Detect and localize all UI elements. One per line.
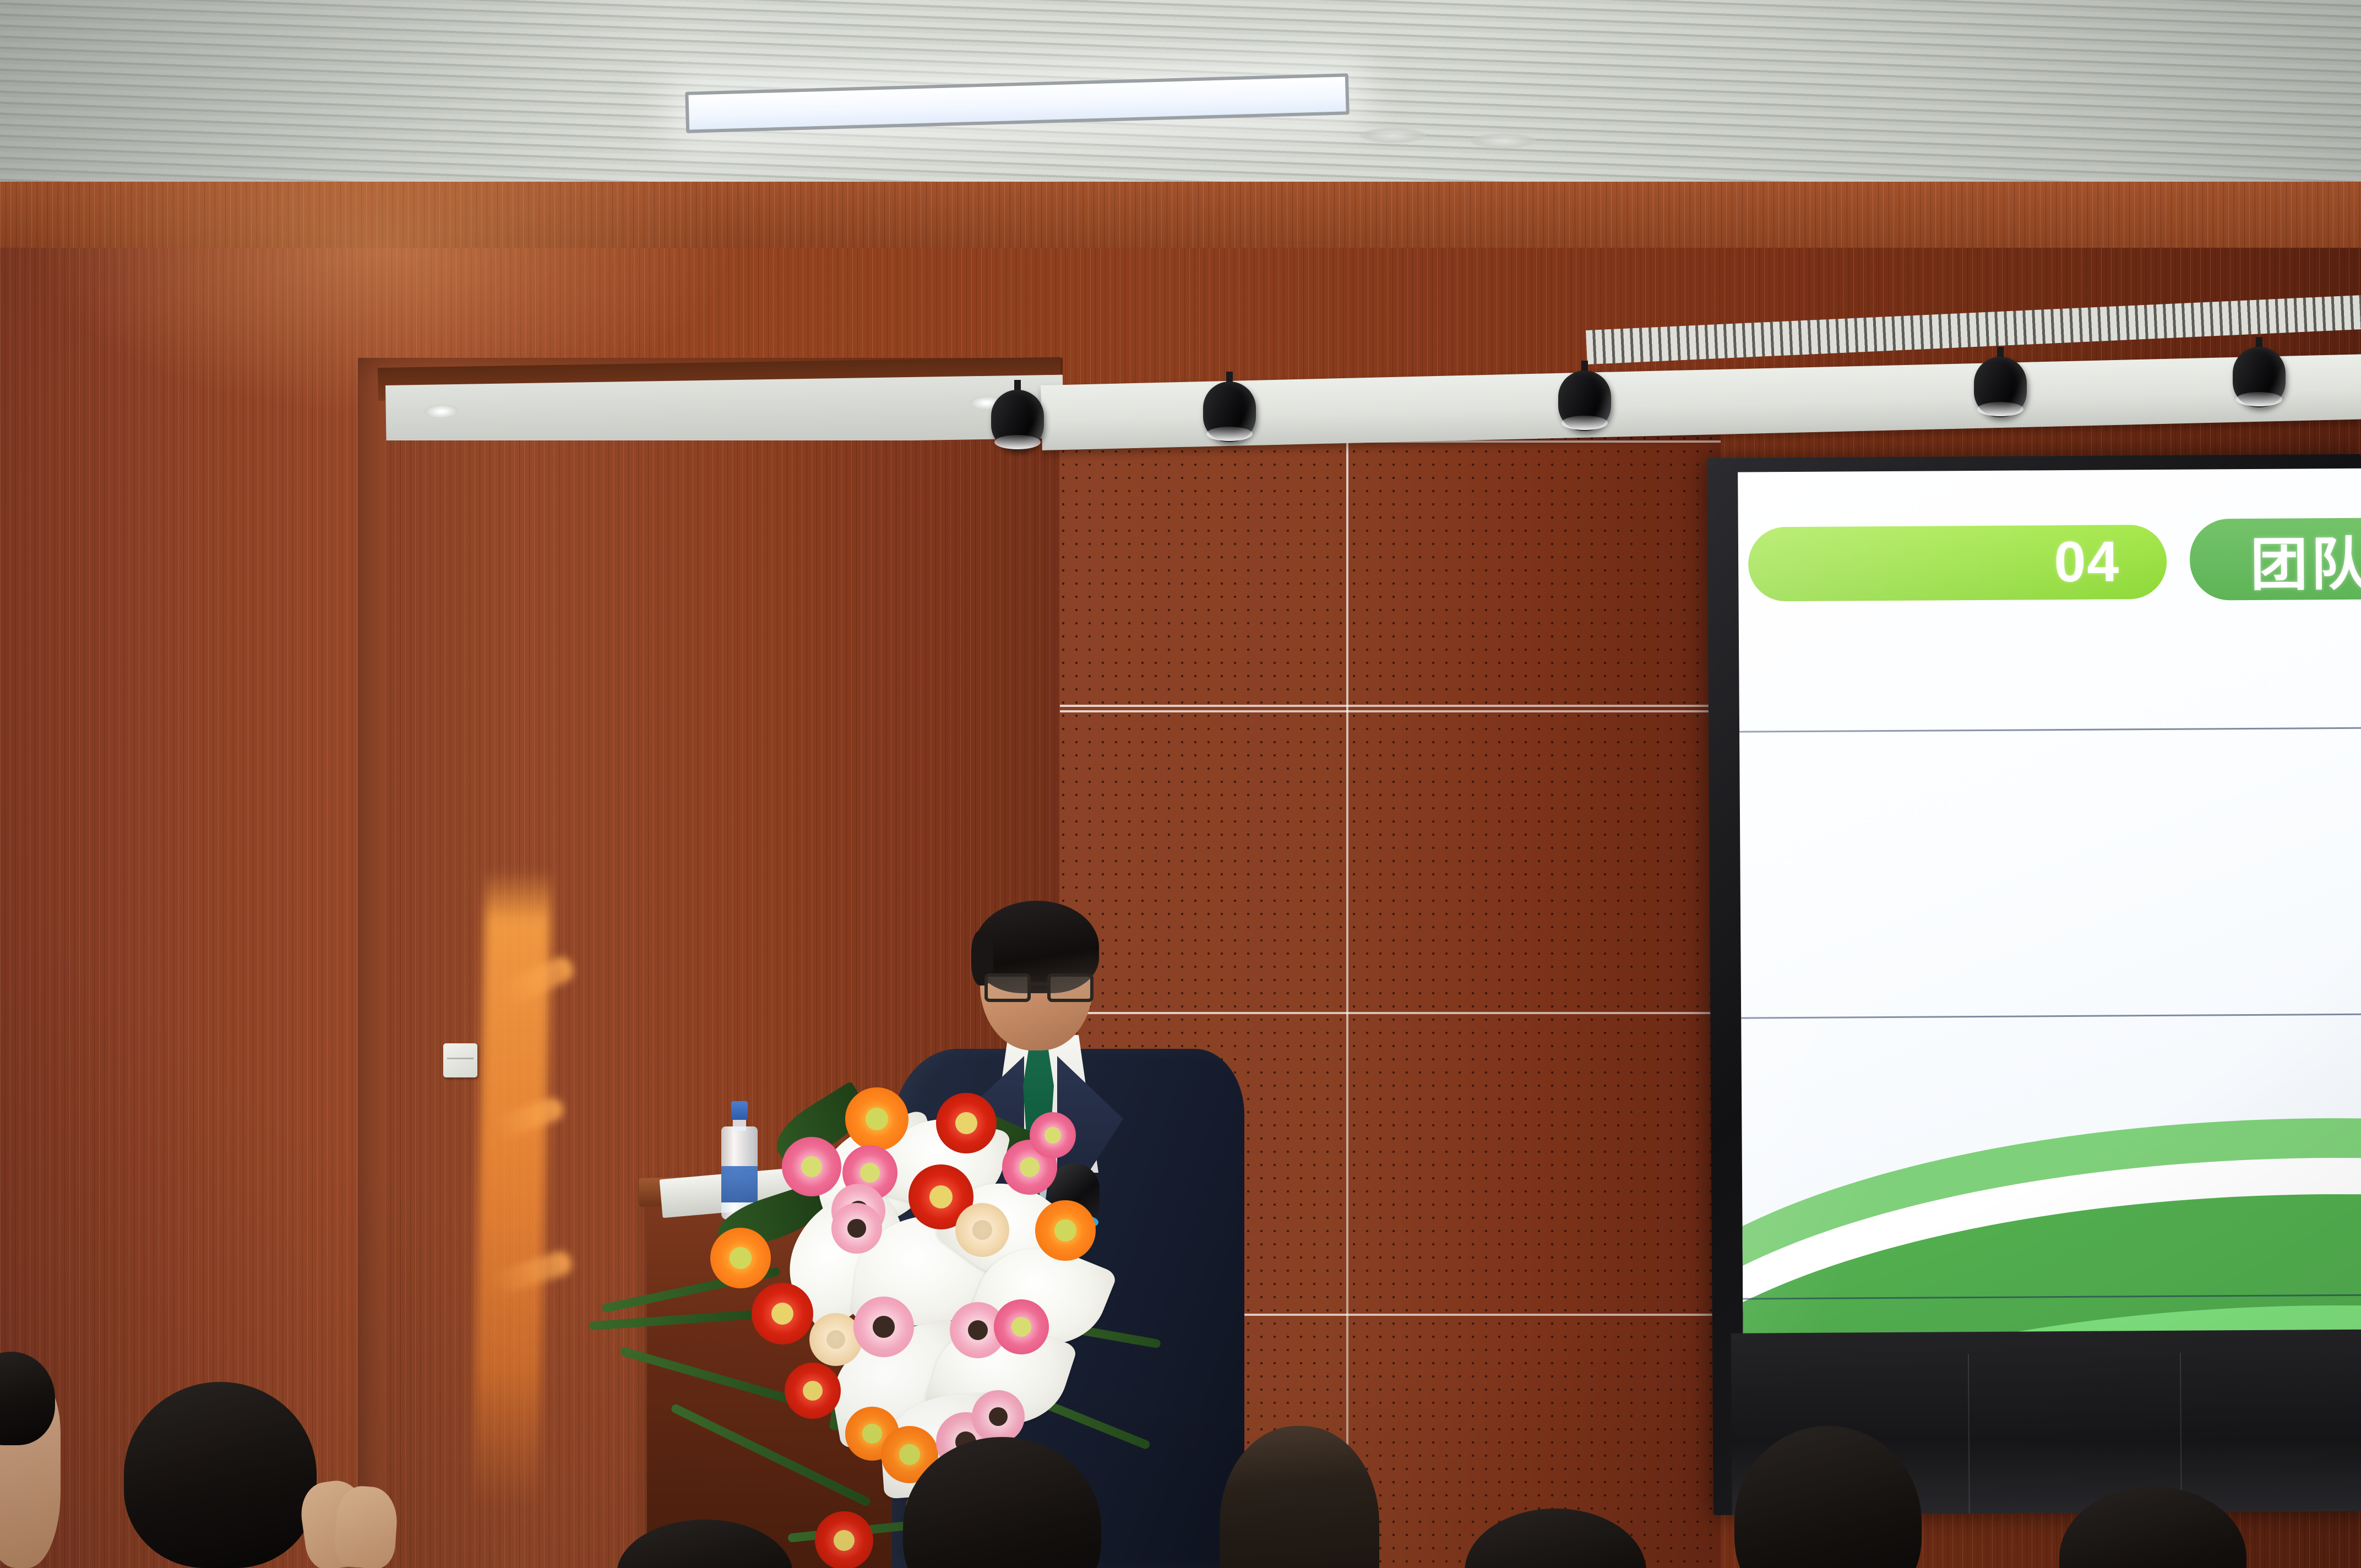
slide-section-title-pill: 团队建设 [2190,516,2361,601]
eyeglass-lens-right [1047,973,1094,1002]
orange-gerbera [710,1228,771,1288]
spotlight-rim [1977,402,2023,416]
spotlight-rim [2236,392,2282,406]
spotlight-rim [994,435,1041,449]
panel-seam-horizontal [1741,1011,2361,1019]
light-pink-gerbera [853,1297,914,1357]
spotlight-head [1558,371,1611,431]
spotlight-rim [1206,427,1253,441]
pink-gerbera [994,1299,1049,1354]
slide-section-number: 04 [2054,529,2120,595]
light-pink-gerbera [831,1203,882,1254]
clapping-hand [333,1484,399,1568]
spotlight-head [1203,382,1256,442]
eyeglass-lens-left [984,973,1031,1002]
spotlight-head [2233,347,2286,407]
red-gerbera [752,1283,813,1344]
panel-seam-vertical [1346,435,1348,1568]
red-gerbera [785,1363,841,1419]
orange-gerbera [845,1087,909,1151]
spotlight-rim [1562,416,1608,430]
panel-seam-horizontal [1739,725,2361,733]
slide-section-number-pill: 04 [1748,525,2167,602]
presentation-slide: 04 团队建设 发 20 [1738,466,2361,1337]
led-video-wall[interactable]: 04 团队建设 发 20 [1707,454,2361,1515]
eyeglasses-icon [984,973,1094,1002]
bezel-seam [2180,1353,2182,1512]
alcove-soffit [385,375,1064,449]
track-spotlight [1558,361,1611,431]
slide-section-title: 团队建设 [2250,516,2361,601]
ceiling-downlight [1360,128,1426,143]
red-gerbera [815,1511,873,1568]
cream-rose [955,1203,1009,1257]
pink-gerbera [1030,1112,1076,1158]
spotlight-head [991,390,1044,450]
bezel-seam [1968,1354,1970,1513]
alcove-downlight [425,404,459,419]
pink-gerbera [782,1137,841,1196]
panel-seam-horizontal [1060,705,1721,707]
wall-switch-plate[interactable] [443,1043,477,1077]
track-spotlight [1974,347,2027,417]
eyeglass-bridge [1031,982,1048,986]
orange-gerbera [1035,1200,1096,1261]
ceiling-downlight [1470,133,1536,149]
light-pink-gerbera [972,1390,1025,1443]
attendee-head [124,1382,317,1568]
track-spotlight [2233,337,2286,407]
conference-photo-scene: 04 团队建设 发 20 [0,0,2361,1568]
track-spotlight [991,380,1044,450]
spotlight-head [1974,357,2027,417]
track-spotlight [1203,372,1256,442]
red-gerbera [936,1093,997,1153]
panel-seam-horizontal [1060,710,1721,712]
